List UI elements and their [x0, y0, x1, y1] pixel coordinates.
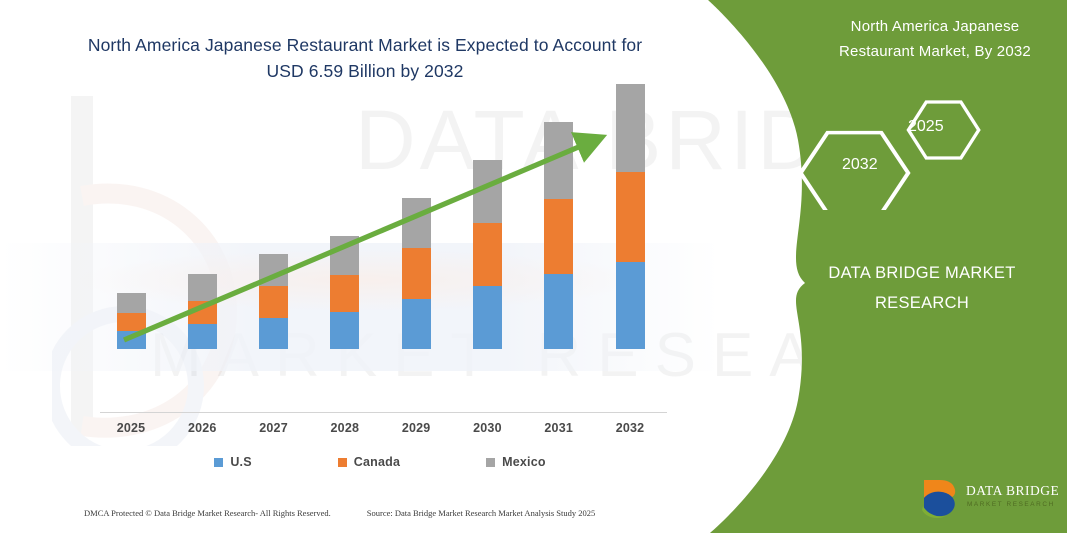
legend-item-mexico[interactable]: Mexico [486, 455, 546, 469]
legend-item-us[interactable]: U.S [214, 455, 251, 469]
hexagon-group: 2032 2025 [795, 88, 1067, 210]
bar-segment-mexico [188, 274, 217, 301]
bar-segment-us [188, 324, 217, 349]
bar-segment-canada [616, 172, 645, 262]
hexagon-label-2032: 2032 [842, 156, 878, 174]
bar-segment-us [330, 312, 359, 349]
bar-segment-mexico [616, 84, 645, 172]
bar-segment-us [402, 299, 431, 349]
bar-segment-mexico [473, 160, 502, 223]
bar-segment-us [544, 274, 573, 349]
bar-segment-canada [188, 301, 217, 324]
chart-legend: U.SCanadaMexico [100, 455, 660, 469]
legend-swatch-icon [338, 458, 347, 467]
bar-segment-canada [473, 223, 502, 286]
footer-source: Source: Data Bridge Market Research Mark… [367, 508, 596, 518]
infographic-canvas: DATA BRIDGE MARKET RESEARCH North Americ… [0, 0, 1067, 533]
x-axis-label-2025: 2025 [96, 421, 166, 435]
x-axis-label-2032: 2032 [595, 421, 665, 435]
bar-2031 [544, 122, 573, 349]
bar-segment-us [117, 331, 146, 349]
legend-label: U.S [230, 455, 251, 469]
bar-segment-canada [544, 199, 573, 274]
bar-segment-us [473, 286, 502, 349]
bar-segment-mexico [330, 236, 359, 275]
footer: DMCA Protected © Data Bridge Market Rese… [84, 508, 684, 518]
bar-2032 [616, 84, 645, 349]
side-panel-title: North America Japanese Restaurant Market… [818, 14, 1052, 64]
legend-item-canada[interactable]: Canada [338, 455, 400, 469]
legend-label: Mexico [502, 455, 546, 469]
side-panel: DATA BRIDGE North America Japanese Resta… [690, 0, 1067, 533]
trend-arrow-icon [0, 0, 700, 470]
x-axis-label-2031: 2031 [524, 421, 594, 435]
bar-2025 [117, 293, 146, 349]
hexagon-label-2025: 2025 [908, 118, 944, 136]
bar-segment-canada [259, 286, 288, 318]
bar-2029 [402, 198, 431, 349]
bar-2030 [473, 160, 502, 349]
bar-2027 [259, 254, 288, 349]
bar-2026 [188, 274, 217, 349]
x-axis-label-2026: 2026 [167, 421, 237, 435]
bar-chart: 20252026202720282029203020312032 [0, 0, 700, 470]
bar-segment-us [259, 318, 288, 349]
x-axis-label-2029: 2029 [381, 421, 451, 435]
bar-segment-mexico [544, 122, 573, 199]
bar-segment-canada [117, 313, 146, 331]
x-axis-label-2028: 2028 [310, 421, 380, 435]
x-axis-label-2027: 2027 [239, 421, 309, 435]
side-panel-brand: DATA BRIDGE MARKET RESEARCH [788, 258, 1056, 318]
x-axis-label-2030: 2030 [452, 421, 522, 435]
bar-segment-canada [402, 248, 431, 299]
bar-segment-mexico [117, 293, 146, 313]
svg-text:MARKET RESEARCH: MARKET RESEARCH [967, 501, 1055, 508]
bar-segment-us [616, 262, 645, 349]
legend-label: Canada [354, 455, 400, 469]
company-logo: DATA BRIDGE MARKET RESEARCH [918, 476, 1058, 520]
legend-swatch-icon [214, 458, 223, 467]
footer-copyright: DMCA Protected © Data Bridge Market Rese… [84, 508, 331, 518]
svg-text:DATA BRIDGE: DATA BRIDGE [966, 483, 1058, 498]
bar-segment-canada [330, 275, 359, 312]
bar-segment-mexico [259, 254, 288, 286]
x-axis-line [100, 412, 667, 413]
bar-segment-mexico [402, 198, 431, 248]
bar-2028 [330, 236, 359, 349]
legend-swatch-icon [486, 458, 495, 467]
